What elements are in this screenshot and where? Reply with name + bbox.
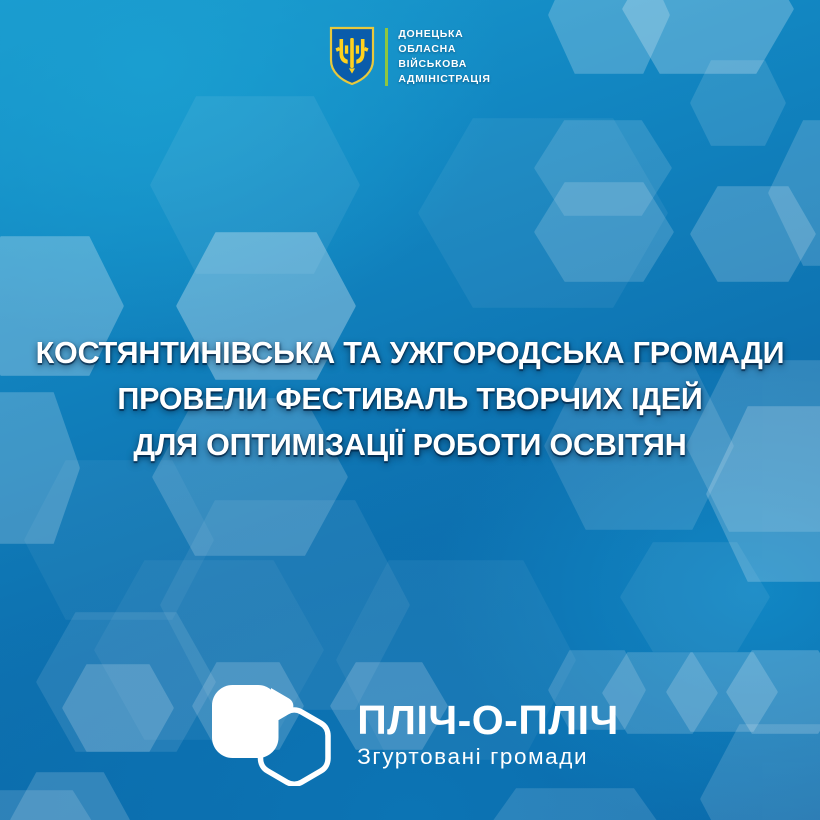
header-line-1: ДОНЕЦЬКА <box>398 27 490 42</box>
header-branding: ДОНЕЦЬКА ОБЛАСНА ВІЙСЬКОВА АДМІНІСТРАЦІЯ <box>0 26 820 87</box>
headline-line-3: ДЛЯ ОПТИМІЗАЦІЇ РОБОТИ ОСВІТЯН <box>0 422 820 468</box>
headline-line-2: ПРОВЕЛИ ФЕСТИВАЛЬ ТВОРЧИХ ІДЕЙ <box>0 376 820 422</box>
logo-wordmark: ПЛІЧ-О-ПЛІЧ Згуртовані громади <box>357 698 619 770</box>
footer-logo: ПЛІЧ-О-ПЛІЧ Згуртовані громади <box>0 682 820 786</box>
ukraine-coat-of-arms-icon <box>329 26 375 86</box>
headline-block: КОСТЯНТИНІВСЬКА ТА УЖГОРОДСЬКА ГРОМАДИ П… <box>0 330 820 468</box>
header-line-2: ОБЛАСНА <box>398 42 490 57</box>
two-overlapping-hexagons-icon <box>201 682 331 786</box>
background-hexagon <box>470 788 680 820</box>
header-divider <box>385 28 388 86</box>
header-line-3: ВІЙСЬКОВА <box>398 57 490 72</box>
logo-title: ПЛІЧ-О-ПЛІЧ <box>357 698 619 742</box>
header-text-block: ДОНЕЦЬКА ОБЛАСНА ВІЙСЬКОВА АДМІНІСТРАЦІЯ <box>398 27 490 87</box>
poster-canvas: ДОНЕЦЬКА ОБЛАСНА ВІЙСЬКОВА АДМІНІСТРАЦІЯ… <box>0 0 820 820</box>
background-hexagon <box>150 96 360 274</box>
headline-line-1: КОСТЯНТИНІВСЬКА ТА УЖГОРОДСЬКА ГРОМАДИ <box>0 330 820 376</box>
logo-subtitle: Згуртовані громади <box>357 743 619 770</box>
header-line-4: АДМІНІСТРАЦІЯ <box>398 72 490 87</box>
